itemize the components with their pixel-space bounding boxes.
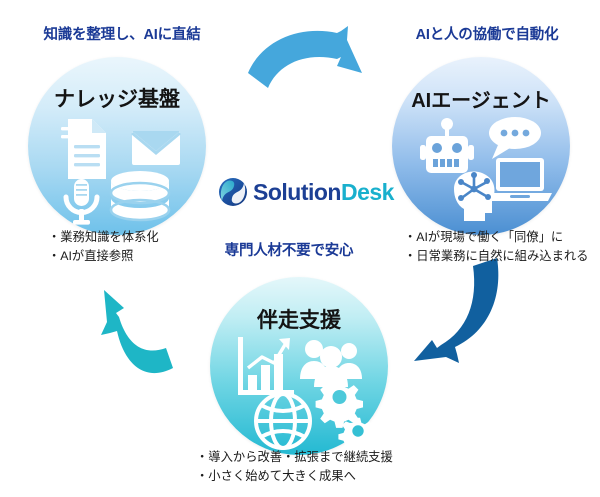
node-knowledge[interactable]: ナレッジ基盤 <box>28 57 206 235</box>
bullets-agent: ・AIが現場で働く「同僚」に ・日常業務に自然に組み込まれる <box>404 228 588 265</box>
node-agent-label: AIエージェント <box>392 84 570 113</box>
arrow-agent-to-support <box>414 258 498 363</box>
heading-agent: AIと人の協働で自動化 <box>382 28 592 44</box>
logo-text-desk: Desk <box>341 179 394 205</box>
node-agent[interactable]: AIエージェント <box>392 57 570 235</box>
bullet-knowledge-1: ・業務知識を体系化 <box>48 228 159 247</box>
bullets-support: ・導入から改善・拡張まで継続支援 ・小さく始めて大きく成果へ <box>196 448 393 485</box>
bar-chart-growth-icon <box>238 337 294 395</box>
brain-head-icon <box>454 171 494 221</box>
logo-text-solution: Solution <box>253 179 341 205</box>
arrow-knowledge-to-agent <box>248 26 362 88</box>
bullet-agent-1: ・AIが現場で働く「同僚」に <box>404 228 588 247</box>
globe-icon <box>256 394 310 448</box>
diagram-canvas: 知識を整理し、AIに直結 AIと人の協働で自動化 専門人材不要で安心 ナレッジ基… <box>0 0 600 497</box>
speech-bubble-icon <box>489 117 541 159</box>
database-icon <box>111 171 169 220</box>
laptop-icon <box>488 158 552 201</box>
document-icon <box>61 119 106 179</box>
arrow-support-to-knowledge <box>101 290 173 373</box>
robot-icon <box>420 118 474 173</box>
node-support-label: 伴走支援 <box>210 304 388 334</box>
logo-text: SolutionDesk <box>253 181 394 204</box>
node-knowledge-label: ナレッジ基盤 <box>28 83 206 113</box>
heading-support: 専門人材不要で安心 <box>196 244 382 260</box>
bullets-knowledge: ・業務知識を体系化 ・AIが直接参照 <box>48 228 159 265</box>
solutiondesk-logo: SolutionDesk <box>218 172 388 212</box>
node-support[interactable]: 伴走支援 <box>210 277 388 455</box>
microphone-icon <box>66 179 97 225</box>
heading-knowledge: 知識を整理し、AIに直結 <box>12 28 232 44</box>
bullet-support-1: ・導入から改善・拡張まで継続支援 <box>196 448 393 467</box>
bullet-agent-2: ・日常業務に自然に組み込まれる <box>404 247 588 266</box>
s-swirl-icon <box>218 177 248 207</box>
envelope-icon <box>132 131 180 165</box>
people-group-icon <box>300 340 362 387</box>
gears-icon <box>316 381 377 452</box>
bullet-knowledge-2: ・AIが直接参照 <box>48 247 159 266</box>
bullet-support-2: ・小さく始めて大きく成果へ <box>196 467 393 486</box>
